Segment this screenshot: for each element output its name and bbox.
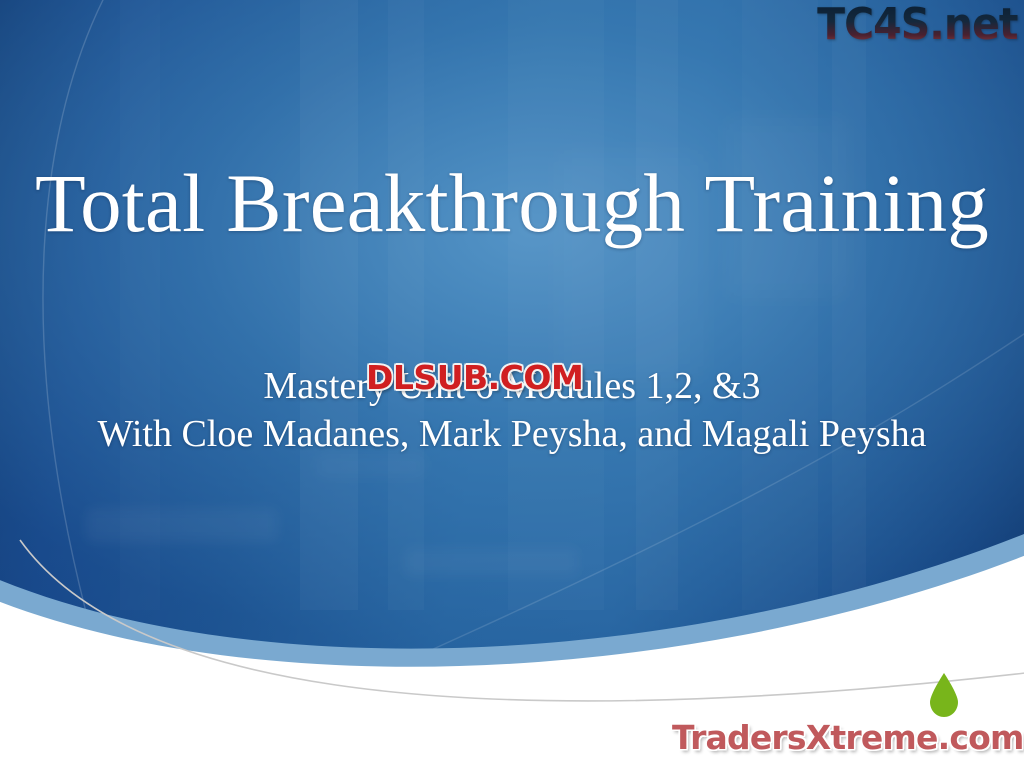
tradersxtreme-logo[interactable]: TradersXtreme.com: [672, 666, 1016, 764]
tradersxtreme-logo-text: TradersXtreme.com: [672, 718, 1016, 757]
page-title: Total Breakthrough Training: [0, 160, 1024, 248]
watermark-dlsub: DLSUB.COM: [366, 358, 583, 397]
green-droplet-icon: [927, 672, 961, 718]
presentation-slide: Total Breakthrough Training Mastery Unit…: [0, 0, 1024, 768]
subtitle-line-presenters: With Cloe Madanes, Mark Peysha, and Maga…: [0, 412, 1024, 457]
watermark-tc4s: TC4S.net: [818, 2, 1018, 48]
title-block: Total Breakthrough Training: [0, 160, 1024, 248]
